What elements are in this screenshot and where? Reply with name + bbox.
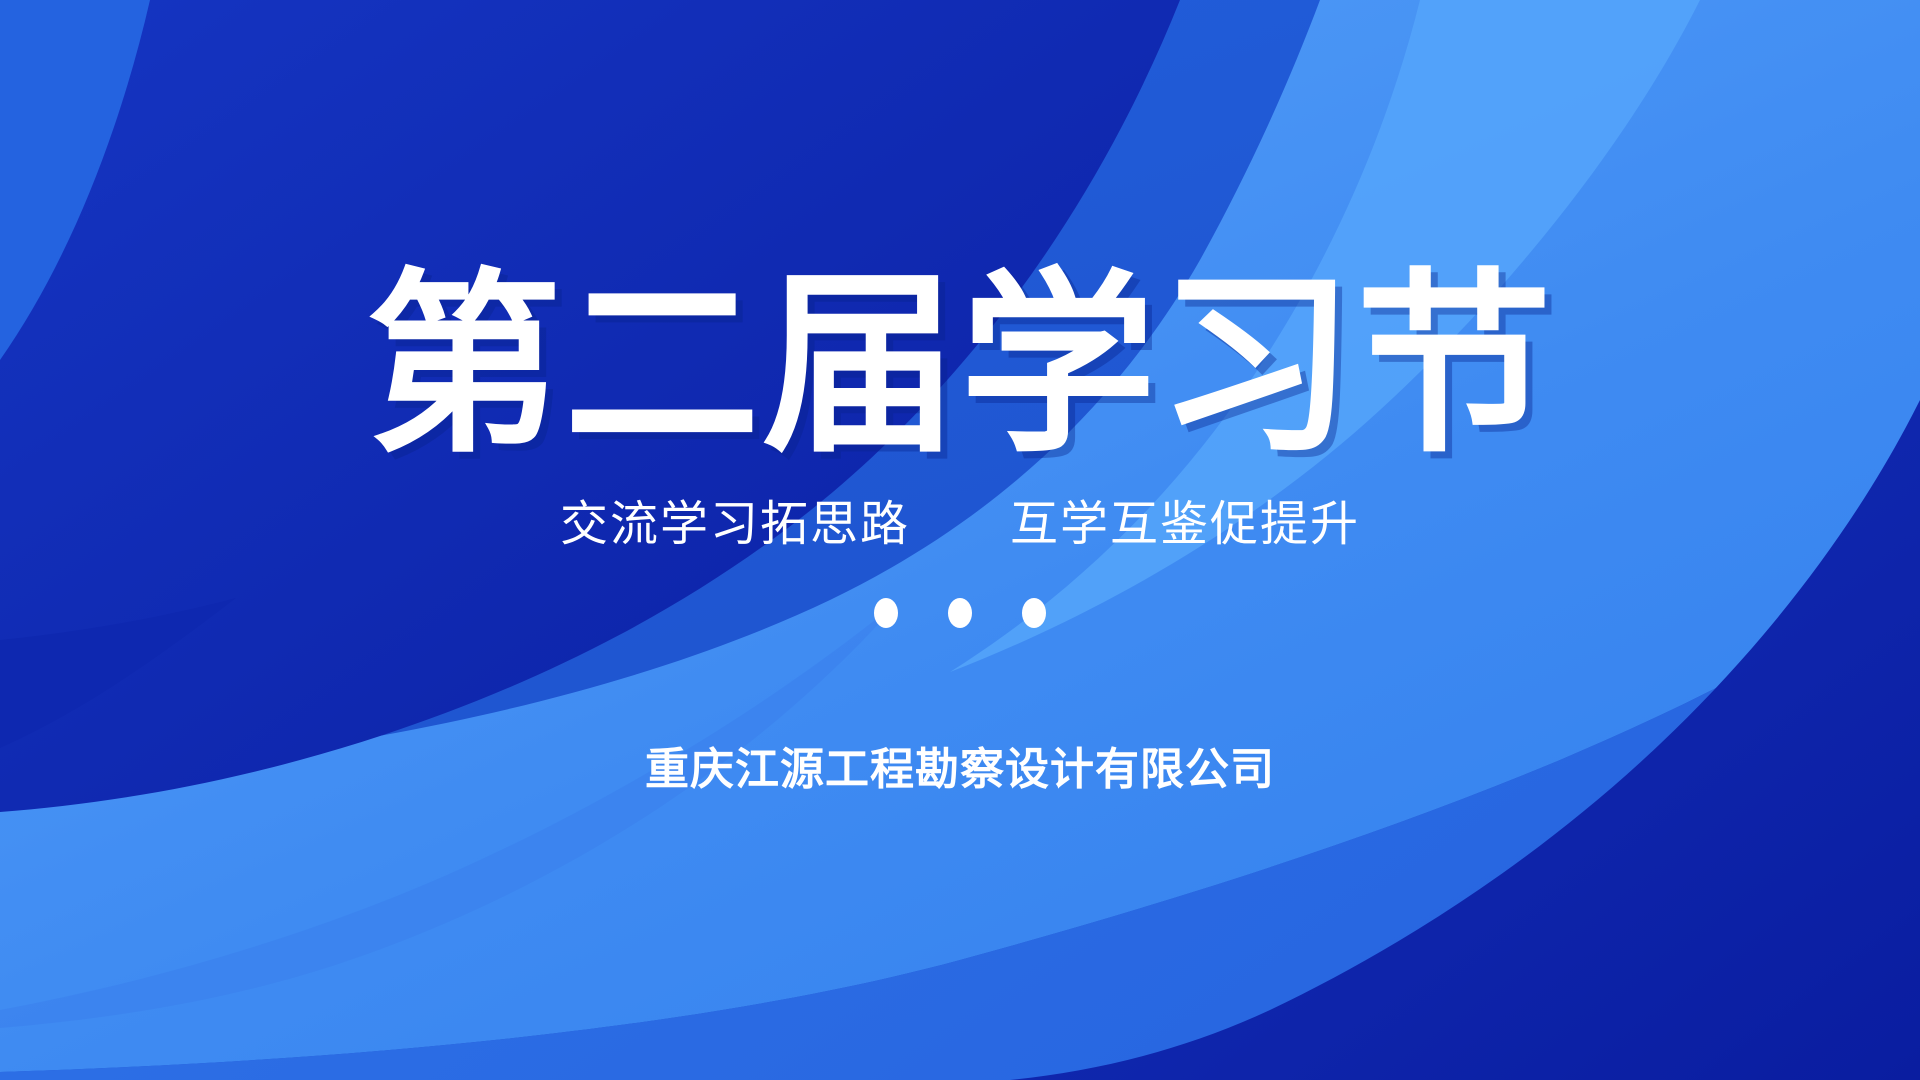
subtitle: 交流学习拓思路 互学互鉴促提升 [0,496,1920,554]
dot-separator [0,598,1920,628]
company-name: 重庆江源工程勘察设计有限公司 [0,744,1920,797]
poster-content: 第二届学习节 交流学习拓思路 互学互鉴促提升 重庆江源工程勘察设计有限公司 [0,0,1920,1080]
separator-dot-1 [874,598,898,628]
page-title: 第二届学习节 [0,268,1920,464]
poster-canvas: 第二届学习节 交流学习拓思路 互学互鉴促提升 重庆江源工程勘察设计有限公司 [0,0,1920,1080]
separator-dot-2 [948,598,972,628]
separator-dot-3 [1022,598,1046,628]
